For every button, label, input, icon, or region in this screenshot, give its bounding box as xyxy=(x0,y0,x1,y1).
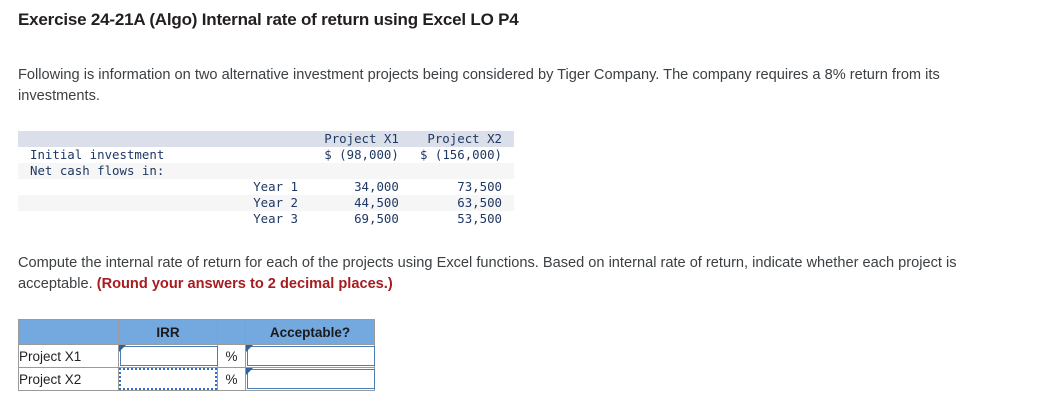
data-header-project-x2: Project X2 xyxy=(411,131,514,147)
answer-row-label: Project X1 xyxy=(19,345,119,368)
answer-row-project-x2: Project X2 % xyxy=(19,368,375,391)
acceptable-select-cell-x1[interactable] xyxy=(246,345,375,368)
row-label xyxy=(18,179,203,195)
answer-table: IRR Acceptable? Project X1 % Project X2 xyxy=(18,319,375,391)
answer-header-percent-spacer xyxy=(218,320,246,345)
answer-row-project-x1: Project X1 % xyxy=(19,345,375,368)
data-header-project-x1: Project X1 xyxy=(310,131,411,147)
row-value-x1: 69,500 xyxy=(310,211,411,227)
answer-row-label: Project X2 xyxy=(19,368,119,391)
acceptable-select-x2[interactable] xyxy=(247,369,375,389)
irr-input-x1[interactable] xyxy=(120,346,218,366)
row-label xyxy=(18,211,203,227)
irr-input-cell-x2[interactable] xyxy=(119,368,218,391)
percent-symbol-x1: % xyxy=(218,345,246,368)
answer-header-irr: IRR xyxy=(119,320,218,345)
row-value-x2: 63,500 xyxy=(411,195,514,211)
row-label: Initial investment xyxy=(18,147,203,163)
acceptable-select-cell-x2[interactable] xyxy=(246,368,375,391)
row-value-x1: 34,000 xyxy=(310,179,411,195)
table-row: Year 3 69,500 53,500 xyxy=(18,211,514,227)
data-table-header-row: Project X1 Project X2 xyxy=(18,131,514,147)
cell-corner-triangle-icon xyxy=(246,368,253,375)
row-year xyxy=(203,147,310,163)
row-value-x2 xyxy=(411,163,514,179)
row-value-x2: $ (156,000) xyxy=(411,147,514,163)
table-row: Net cash flows in: xyxy=(18,163,514,179)
row-label: Net cash flows in: xyxy=(18,163,203,179)
row-value-x2: 53,500 xyxy=(411,211,514,227)
data-header-blank xyxy=(18,131,203,147)
percent-symbol-x2: % xyxy=(218,368,246,391)
page-title: Exercise 24-21A (Algo) Internal rate of … xyxy=(18,10,519,30)
answer-header-blank xyxy=(19,320,119,345)
row-year xyxy=(203,163,310,179)
project-data-table: Project X1 Project X2 Initial investment… xyxy=(18,131,514,227)
row-year: Year 2 xyxy=(203,195,310,211)
irr-input-cell-x1[interactable] xyxy=(119,345,218,368)
acceptable-select-x1[interactable] xyxy=(247,346,375,366)
row-value-x1 xyxy=(310,163,411,179)
answer-header-acceptable: Acceptable? xyxy=(246,320,375,345)
row-year: Year 3 xyxy=(203,211,310,227)
rounding-instruction: (Round your answers to 2 decimal places.… xyxy=(97,276,393,292)
row-value-x1: 44,500 xyxy=(310,195,411,211)
question-paragraph: Compute the internal rate of return for … xyxy=(18,253,1023,295)
irr-input-x2[interactable] xyxy=(119,368,217,390)
table-row: Year 2 44,500 63,500 xyxy=(18,195,514,211)
cell-corner-triangle-icon xyxy=(119,345,126,352)
row-value-x1: $ (98,000) xyxy=(310,147,411,163)
data-header-year-spacer xyxy=(203,131,310,147)
cell-corner-triangle-icon xyxy=(246,345,253,352)
answer-table-header-row: IRR Acceptable? xyxy=(19,320,375,345)
exercise-page: Exercise 24-21A (Algo) Internal rate of … xyxy=(0,0,1064,415)
row-value-x2: 73,500 xyxy=(411,179,514,195)
table-row: Initial investment $ (98,000) $ (156,000… xyxy=(18,147,514,163)
table-row: Year 1 34,000 73,500 xyxy=(18,179,514,195)
intro-paragraph: Following is information on two alternat… xyxy=(18,65,1023,107)
row-label xyxy=(18,195,203,211)
row-year: Year 1 xyxy=(203,179,310,195)
